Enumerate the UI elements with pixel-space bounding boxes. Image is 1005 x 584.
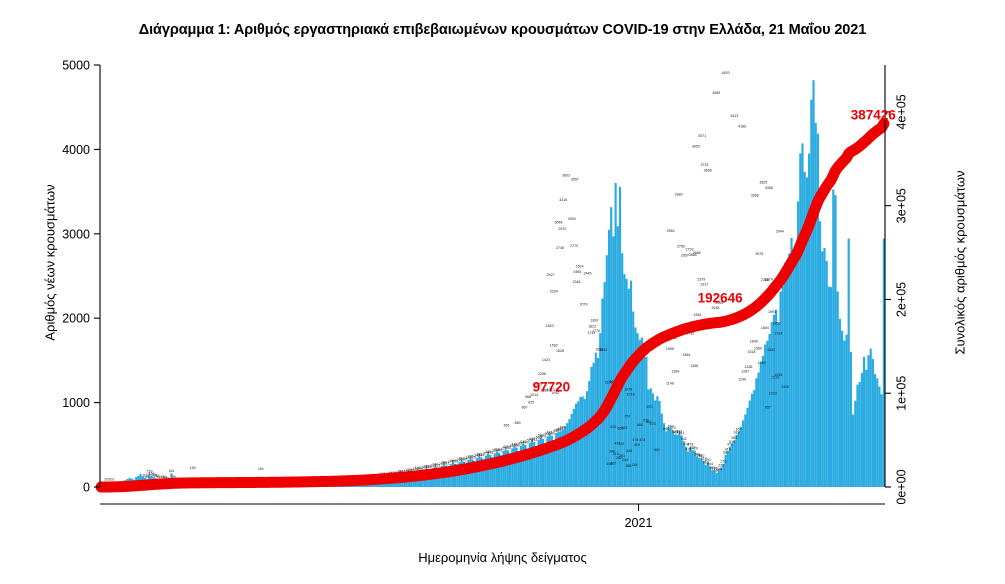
- bar: [689, 447, 691, 487]
- bar: [757, 373, 759, 487]
- bar: [751, 394, 753, 487]
- y-axis-left-tick-label: 5000: [62, 59, 90, 73]
- bar: [872, 359, 874, 487]
- bar: [790, 238, 792, 487]
- bar: [582, 396, 584, 487]
- bar-value-label: 2657: [681, 254, 689, 258]
- bar-value-label: 2769: [677, 244, 685, 248]
- bar: [839, 319, 841, 487]
- y-axis-left-tick-label: 1000: [62, 396, 90, 410]
- bar-value-label: 1389: [758, 361, 766, 365]
- bar: [568, 419, 570, 487]
- bar: [775, 310, 777, 487]
- bar-value-label: 184: [632, 463, 638, 467]
- bar: [834, 195, 836, 487]
- bar: [874, 374, 876, 487]
- bar: [740, 427, 742, 487]
- bar-value-label: 1148: [666, 382, 674, 386]
- bar: [845, 335, 847, 487]
- bar: [815, 123, 817, 487]
- bar: [843, 341, 845, 487]
- bar: [784, 263, 786, 487]
- bar: [663, 423, 665, 487]
- bar: [738, 432, 740, 487]
- bar-value-label: 1023: [769, 392, 777, 396]
- bar: [826, 261, 828, 487]
- bar: [746, 408, 748, 487]
- bar-value-label: 429: [692, 447, 698, 451]
- bar: [788, 253, 790, 487]
- bar: [606, 255, 608, 487]
- bar-value-label: 2970: [558, 227, 566, 231]
- bar-value-label: 161: [168, 469, 174, 473]
- bar-value-label: 2079: [580, 303, 588, 307]
- chart-plot-area: 2020215916165168098892586710141066107310…: [0, 0, 1005, 584]
- bar: [665, 431, 667, 487]
- bar: [801, 143, 803, 487]
- bar: [742, 420, 744, 487]
- bar-value-label: 419: [725, 447, 731, 451]
- bar-value-label: 2038: [711, 306, 719, 310]
- bar-value-label: 510: [729, 440, 735, 444]
- bar-value-label: 2465: [573, 270, 581, 274]
- bar-value-label: 620: [617, 426, 623, 430]
- bar-value-label: 348: [626, 449, 632, 453]
- bar-value-label: 1190: [738, 377, 746, 381]
- bar-value-label: 4589: [712, 91, 720, 95]
- bar: [698, 458, 700, 487]
- bar-value-label: 632: [610, 425, 616, 429]
- bar: [630, 281, 632, 487]
- bar-value-label: 611: [679, 431, 685, 435]
- bar: [705, 465, 707, 487]
- bar: [878, 387, 880, 487]
- bar: [808, 154, 810, 487]
- bar: [795, 256, 797, 487]
- bar: [755, 378, 757, 487]
- x-axis-tick-label: 2021: [625, 516, 653, 530]
- bar: [876, 378, 878, 487]
- bar-value-label: 3090: [568, 217, 576, 221]
- bar: [848, 239, 850, 487]
- bar-value-label: 20202: [104, 478, 114, 482]
- bar: [650, 388, 652, 487]
- bar: [648, 389, 650, 487]
- bar: [586, 391, 588, 487]
- chart-figure: Διάγραμμα 1: Αριθμός εργαστηριακά επιβεβ…: [0, 0, 1005, 584]
- bar-value-label: 553: [731, 436, 737, 440]
- bar: [832, 189, 834, 487]
- bar-value-label: 1541: [599, 348, 607, 352]
- bar-value-label: 1804: [761, 326, 769, 330]
- bar-value-label: 1993: [768, 310, 776, 314]
- bar-value-label: 680: [560, 425, 566, 429]
- bar: [799, 153, 801, 487]
- bar: [854, 401, 856, 487]
- bar-value-label: 4071: [698, 134, 706, 138]
- bar: [773, 315, 775, 487]
- bar-value-label: 1734: [774, 332, 782, 336]
- bar-value-label: 1484: [682, 353, 690, 357]
- bar-value-label: 3048: [554, 221, 562, 225]
- bar-value-label: 3368: [751, 194, 759, 198]
- bar-value-label: 673: [650, 422, 656, 426]
- y-axis-left-tick-label: 4000: [62, 143, 90, 157]
- bar-value-label: 925: [528, 401, 534, 405]
- bar-value-label: 1518: [748, 350, 756, 354]
- bar: [678, 434, 680, 487]
- bar: [766, 341, 768, 487]
- y-axis-left-tick-label: 3000: [62, 227, 90, 241]
- bar-value-label: 1891: [591, 319, 599, 323]
- bar-value-label: 3733: [700, 163, 708, 167]
- bar: [859, 382, 861, 487]
- bar: [819, 221, 821, 487]
- bar: [661, 414, 663, 487]
- bar: [823, 248, 825, 487]
- bar-value-label: 2524: [576, 265, 584, 269]
- bar: [760, 362, 762, 487]
- bar-value-label: 2234: [550, 290, 558, 294]
- bar-value-label: 1823: [546, 324, 554, 328]
- bar-value-label: 478: [639, 438, 645, 442]
- bar: [837, 291, 839, 487]
- bar-value-label: 2668: [689, 253, 697, 257]
- bar-value-label: 3316: [559, 198, 567, 202]
- bar: [674, 434, 676, 487]
- cumulative-annotation-label: 97720: [533, 379, 571, 394]
- bar-value-label: 3383: [675, 192, 683, 196]
- bar-value-label: 429: [618, 442, 624, 446]
- bar: [579, 397, 581, 487]
- bar-value-label: 3668: [704, 168, 712, 172]
- bar-value-label: 2679: [755, 252, 763, 256]
- bar-value-label: 680: [515, 421, 521, 425]
- bar-value-label: 660: [637, 423, 643, 427]
- y-axis-left-tick-label: 2000: [62, 312, 90, 326]
- bar: [793, 262, 795, 487]
- bar-value-label: 3458: [765, 186, 773, 190]
- bar-value-label: 3953: [692, 144, 700, 148]
- bar-value-label: 2427: [547, 273, 555, 277]
- bar-value-label: 1076: [624, 387, 632, 391]
- bar: [828, 287, 830, 487]
- bar: [573, 409, 575, 487]
- bar-value-label: 542: [681, 437, 687, 441]
- cumulative-annotation-label: 387426: [851, 108, 897, 123]
- y-axis-right-tick-label: 0e+00: [895, 469, 909, 504]
- bar-value-label: 1640: [750, 340, 758, 344]
- bar-value-label: 4186: [738, 125, 746, 129]
- bar-value-label: 2317: [700, 282, 708, 286]
- bar-value-label: 3557: [571, 178, 579, 182]
- bar: [577, 401, 579, 487]
- bar-value-label: 1256: [538, 372, 546, 376]
- bar-value-label: 1100: [781, 385, 789, 389]
- y-axis-right-tick-label: 2e+05: [895, 282, 909, 317]
- bar: [696, 457, 698, 487]
- bar: [850, 352, 852, 487]
- bar: [812, 80, 814, 487]
- bar: [867, 355, 869, 487]
- bar: [762, 356, 764, 487]
- bar: [718, 471, 720, 487]
- bar-value-label: 196: [606, 462, 612, 466]
- bar: [830, 287, 832, 487]
- bar: [584, 399, 586, 487]
- bar: [727, 452, 729, 487]
- cumulative-annotation-label: 192646: [698, 290, 744, 305]
- bar-value-label: 1423: [542, 358, 550, 362]
- bar-value-label: 857: [765, 406, 771, 410]
- bar: [881, 394, 883, 487]
- bar-value-label: 1542: [767, 348, 775, 352]
- x-axis-label: Ημερομηνία λήψης δείγματος: [0, 550, 1005, 565]
- bar: [670, 429, 672, 487]
- bar: [676, 435, 678, 487]
- bar-value-label: 1852: [773, 322, 781, 326]
- bars-group: [100, 80, 885, 487]
- bar: [632, 312, 634, 487]
- y-axis-left-label: Αριθμός νέων κρουσμάτων: [43, 133, 58, 393]
- bar: [716, 473, 718, 487]
- bar-value-label: 360: [654, 448, 660, 452]
- y-axis-left-tick-label: 0: [83, 481, 90, 495]
- bar-value-label: 2445: [583, 271, 591, 275]
- bar: [744, 415, 746, 488]
- bar: [575, 404, 577, 487]
- bar-value-label: 1287: [741, 369, 749, 373]
- bar: [821, 251, 823, 487]
- bar: [733, 440, 735, 487]
- bar: [865, 370, 867, 487]
- bar: [863, 357, 865, 487]
- bar: [753, 390, 755, 487]
- bar-value-label: 1356: [690, 364, 698, 368]
- bar: [566, 423, 568, 487]
- bar: [617, 226, 619, 487]
- bar-value-label: 2368: [761, 278, 769, 282]
- bar: [608, 230, 610, 487]
- bar-value-label: 1244: [774, 373, 782, 377]
- y-axis-right-tick-label: 1e+05: [895, 376, 909, 411]
- bar-value-label: 651: [504, 424, 510, 428]
- bar-value-label: 3602: [562, 173, 570, 177]
- bar-value-label: 1592: [550, 344, 558, 348]
- bar-value-label: 2379: [697, 277, 705, 281]
- bar-value-label: 2770: [570, 244, 578, 248]
- bar: [687, 452, 689, 487]
- bar-value-label: 757: [625, 414, 631, 418]
- bar: [735, 435, 737, 487]
- bar: [870, 349, 872, 487]
- bar: [685, 447, 687, 487]
- bar: [861, 373, 863, 487]
- bar: [626, 279, 628, 487]
- bar: [729, 447, 731, 487]
- bar: [654, 400, 656, 487]
- bar: [786, 260, 788, 487]
- bar-value-label: 1954: [693, 313, 701, 317]
- bar-value-label: 2952: [667, 229, 675, 233]
- bar-value-labels: 2020215916165168098892586710141066107310…: [104, 71, 789, 486]
- y-axis-right-tick-label: 4e+05: [895, 94, 909, 129]
- bar: [810, 100, 812, 487]
- bar-value-label: 184: [716, 467, 722, 471]
- bar-value-label: 159: [190, 466, 196, 470]
- bar-value-label: 1289: [671, 370, 679, 374]
- bar-value-label: 1018: [627, 392, 635, 396]
- bar-value-label: 870: [647, 405, 653, 409]
- bar-value-label: 2944: [776, 230, 784, 234]
- bar-value-label: 478: [632, 438, 638, 442]
- bar-value-label: 1528: [556, 349, 564, 353]
- bar: [610, 207, 612, 487]
- bar: [731, 444, 733, 487]
- bar-value-label: 4820: [722, 71, 730, 75]
- bar: [571, 414, 573, 487]
- bar-value-label: 1770: [592, 329, 600, 333]
- bar: [713, 470, 715, 487]
- bar: [659, 401, 661, 487]
- bar-value-label: 4313: [730, 114, 738, 118]
- bar: [667, 427, 669, 487]
- bar-value-label: 276: [720, 460, 726, 464]
- bar: [841, 331, 843, 487]
- bar: [749, 400, 751, 487]
- bar-value-label: 244: [622, 458, 628, 462]
- bar-value-label: 161: [258, 467, 264, 471]
- bar-value-label: 2733: [686, 247, 694, 251]
- bar-value-label: 2746: [556, 246, 564, 250]
- bar-value-label: 419: [634, 443, 640, 447]
- bar-value-label: 1555: [666, 347, 674, 351]
- bar: [768, 334, 770, 487]
- bar-value-label: 2348: [573, 280, 581, 284]
- bar-value-label: 3525: [759, 181, 767, 185]
- bar: [764, 345, 766, 487]
- bar: [856, 385, 858, 487]
- bar-value-label: 168: [625, 464, 631, 468]
- bar: [817, 134, 819, 487]
- y-axis-right-tick-label: 3e+05: [895, 188, 909, 223]
- bar-value-label: 657: [736, 427, 742, 431]
- bar: [601, 298, 603, 487]
- y-axis-right-label: Συνολικός αριθμός κρουσμάτων: [953, 133, 968, 393]
- bar-value-label: 231: [718, 463, 724, 467]
- bar: [777, 323, 779, 487]
- bar: [852, 415, 854, 487]
- bar: [656, 396, 658, 487]
- bar: [672, 430, 674, 487]
- bar-value-label: 867: [522, 406, 528, 410]
